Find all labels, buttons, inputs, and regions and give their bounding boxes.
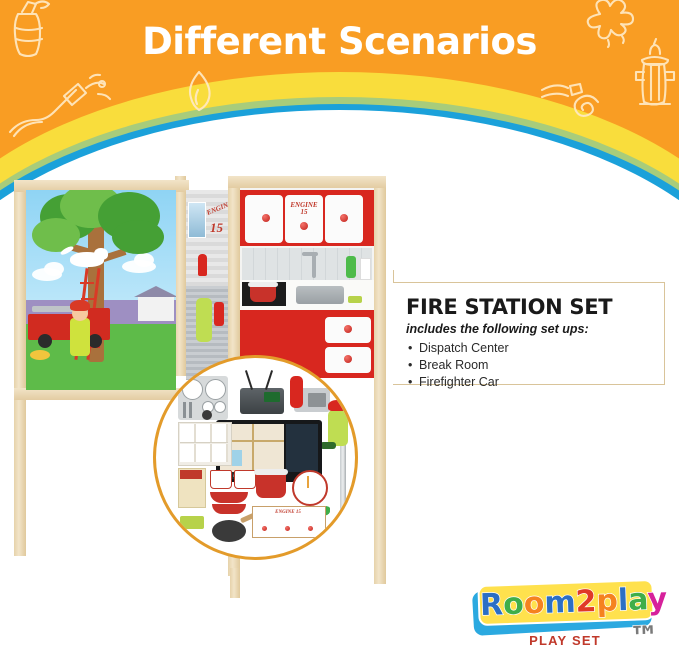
engine-number: 15 [210,220,223,236]
mug [210,470,232,489]
mug [234,470,256,489]
gear-helmet [214,302,224,326]
sponge [348,296,362,303]
switch-lever [189,402,192,418]
station-window [188,202,206,238]
frame-post-mid1 [175,176,186,376]
pot-lid [254,469,288,475]
telephone-keypad [308,393,326,407]
paper-towel [360,258,371,280]
truck-wheel [38,334,52,348]
firefighter-boot [320,442,336,449]
house [138,295,174,321]
sponge [180,516,204,529]
cabinet-engine-label: ENGINE 15 [288,202,320,217]
engine-15-cabinet-label: ENGINE 15 [266,510,310,515]
gauge-icon [182,379,203,400]
bowl [212,504,246,514]
badge-row [180,444,228,462]
logo-letter-y: y [647,582,668,618]
cat-head [94,248,108,260]
panel-break-room: ENGINE 15 [240,188,374,378]
logo-letter-m: m [544,585,576,621]
callout-list: Dispatch Center Break Room Firefighter C… [393,338,664,391]
clock-hand [307,476,309,488]
coiled-hose-icon [540,72,616,122]
frame-rail-top-right [228,176,386,188]
bowl [210,492,248,503]
sink-basin [296,286,344,304]
firefighter-helmet-icon [328,400,346,411]
frying-pan [212,520,246,542]
fire-hose-ground [30,350,50,360]
drawer-knob [344,325,352,333]
drawer-knob [344,355,352,363]
logo-letter-o2: o [523,586,545,622]
cabinet-knob [285,526,290,531]
tree-foliage [112,220,164,254]
cooking-pot [250,286,276,302]
gauge-icon [205,379,226,400]
panel-cat-rescue [26,190,176,390]
page-title: Different Scenarios [0,20,679,63]
logo-letter-r: R [479,587,503,623]
brand-logo: Room2play ™ PLAY SET [470,575,660,659]
cereal-box-label [180,470,202,479]
ladder-rung [80,282,94,284]
logo-letter-a: a [628,582,649,618]
switch-lever [183,402,186,418]
logo-letter-o1: o [503,587,525,623]
callout-box: FIRE STATION SET includes the following … [393,282,665,385]
hose-nozzle-icon [6,72,116,138]
radio-antenna [265,370,273,390]
product-marketing-image: Different Scenarios [0,0,679,662]
faucet-spout [302,252,318,256]
callout-subtitle: includes the following set ups: [393,319,664,338]
frame-post-left [14,180,26,556]
frame-post-right [374,176,386,584]
map-road [252,424,254,472]
sliding-firefighter-body [328,410,348,446]
faucet [312,254,316,278]
firefighter-helmet [70,300,90,311]
status-panel [286,424,318,472]
cabinet-knob [300,222,308,230]
cloud [134,253,154,267]
telephone-handset [290,376,303,408]
logo-wordmark: Room2play ™ [479,582,656,624]
frame-leg-center [230,568,240,598]
list-item: Firefighter Car [419,374,664,391]
list-item: Break Room [419,357,664,374]
pot-lid [248,282,278,287]
radio-display [264,392,280,402]
firefighter [70,318,90,356]
accessories-magnifier: DISPATCH CENTER ENGINE 15 [153,355,358,560]
cabinet-knob [308,526,313,531]
cloud [44,262,64,276]
cabinet-knob [262,526,267,531]
gauge-small-icon [214,401,226,413]
badge-row [180,424,228,443]
flame-icon [178,68,220,122]
cooking-pot [256,474,286,498]
logo-letter-2: 2 [575,584,597,620]
truck-wheel [88,334,102,348]
list-item: Dispatch Center [419,340,664,357]
panel-station-exterior: ENGINE 15 [186,190,228,380]
cabinet-knob [262,214,270,222]
hydrant-graphic [198,254,207,276]
logo-letter-p: p [596,583,619,619]
wall-clock [292,470,328,506]
soap-bottle [346,256,356,278]
cabinet-knob [340,214,348,222]
turnout-gear [196,298,212,342]
logo-tagline: PLAY SET [470,633,660,648]
callout-title: FIRE STATION SET [393,283,664,319]
gauge-dial-icon [202,410,212,420]
radio-antenna [245,370,253,390]
